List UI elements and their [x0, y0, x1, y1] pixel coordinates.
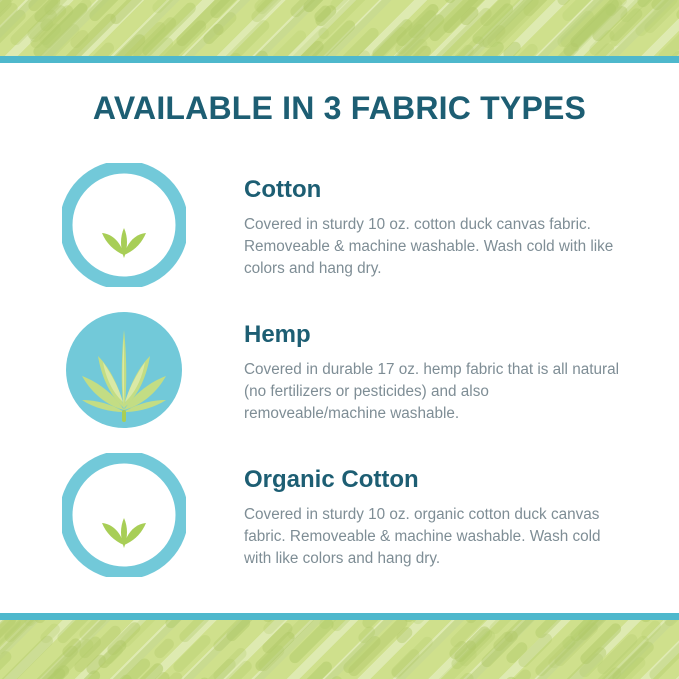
diagonal-dash: [224, 620, 252, 643]
fabric-title: Cotton: [244, 177, 621, 203]
page-title: AVAILABLE IN 3 FABRIC TYPES: [0, 90, 679, 127]
diagonal-dash: [639, 620, 663, 642]
fabric-title: Hemp: [244, 322, 621, 348]
top-decorative-band: [0, 0, 679, 57]
fabric-row-hemp: Hemp Covered in durable 17 oz. hemp fabr…: [0, 308, 679, 432]
cotton-boll-icon: [62, 453, 186, 577]
top-teal-divider-rule: [0, 56, 679, 63]
diagonal-dash: [411, 620, 434, 627]
fabric-title: Organic Cotton: [244, 467, 621, 493]
fabric-text-cotton: Cotton Covered in sturdy 10 oz. cotton d…: [186, 163, 679, 280]
fabric-row-organic-cotton: Organic Cotton Covered in sturdy 10 oz. …: [0, 453, 679, 577]
diagonal-dash: [171, 632, 213, 674]
diagonal-dash: [389, 647, 421, 679]
diagonal-dash: [662, 620, 679, 629]
diagonal-dash-cluster: [0, 620, 679, 679]
fabric-description: Covered in durable 17 oz. hemp fabric th…: [244, 359, 621, 424]
hemp-leaf-icon: [62, 308, 186, 432]
fabric-text-hemp: Hemp Covered in durable 17 oz. hemp fabr…: [186, 308, 679, 425]
fabric-types-infographic: AVAILABLE IN 3 FABRIC TYPES: [0, 0, 679, 679]
fabric-list: Cotton Covered in sturdy 10 oz. cotton d…: [0, 163, 679, 598]
fabric-row-cotton: Cotton Covered in sturdy 10 oz. cotton d…: [0, 163, 679, 287]
fabric-description: Covered in sturdy 10 oz. organic cotton …: [244, 504, 621, 569]
diagonal-dash-cluster: [0, 0, 679, 57]
bottom-decorative-band: [0, 620, 679, 679]
fabric-text-organic-cotton: Organic Cotton Covered in sturdy 10 oz. …: [186, 453, 679, 570]
diagonal-dash: [152, 637, 176, 661]
bottom-teal-divider-rule: [0, 613, 679, 620]
cotton-boll-icon: [62, 163, 186, 287]
fabric-description: Covered in sturdy 10 oz. cotton duck can…: [244, 214, 621, 279]
diagonal-dash: [303, 660, 334, 679]
